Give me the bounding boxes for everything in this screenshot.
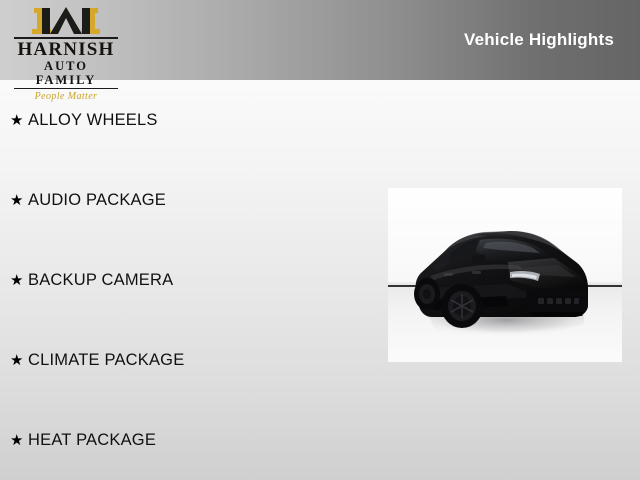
harnish-h-emblem-icon <box>30 6 102 36</box>
list-item: ★ BACKUP CAMERA <box>0 240 370 320</box>
list-item: ★ AUDIO PACKAGE <box>0 160 370 240</box>
page-title: Vehicle Highlights <box>464 30 614 50</box>
highlight-label: BACKUP CAMERA <box>28 271 173 290</box>
star-icon: ★ <box>10 193 28 208</box>
highlight-label: HEAT PACKAGE <box>28 431 156 450</box>
star-icon: ★ <box>10 353 28 368</box>
star-icon: ★ <box>10 113 28 128</box>
vehicle-highlights-list: ★ ALLOY WHEELS ★ AUDIO PACKAGE ★ BACKUP … <box>0 80 370 480</box>
vehicle-photo[interactable] <box>388 188 622 362</box>
star-icon: ★ <box>10 433 28 448</box>
highlight-label: ALLOY WHEELS <box>28 111 158 130</box>
logo-name: HARNISH <box>12 40 120 59</box>
star-icon: ★ <box>10 273 28 288</box>
list-item: ★ ALLOY WHEELS <box>0 80 370 160</box>
vehicle-highlights-page: HARNISH AUTO FAMILY People Matter Vehicl… <box>0 0 640 480</box>
highlight-label: CLIMATE PACKAGE <box>28 351 184 370</box>
highlight-label: AUDIO PACKAGE <box>28 191 166 210</box>
list-item: ★ CLIMATE PACKAGE <box>0 320 370 400</box>
page-header: HARNISH AUTO FAMILY People Matter Vehicl… <box>0 0 640 80</box>
dealer-logo[interactable]: HARNISH AUTO FAMILY People Matter <box>12 6 120 76</box>
list-item: ★ HEAT PACKAGE <box>0 400 370 480</box>
